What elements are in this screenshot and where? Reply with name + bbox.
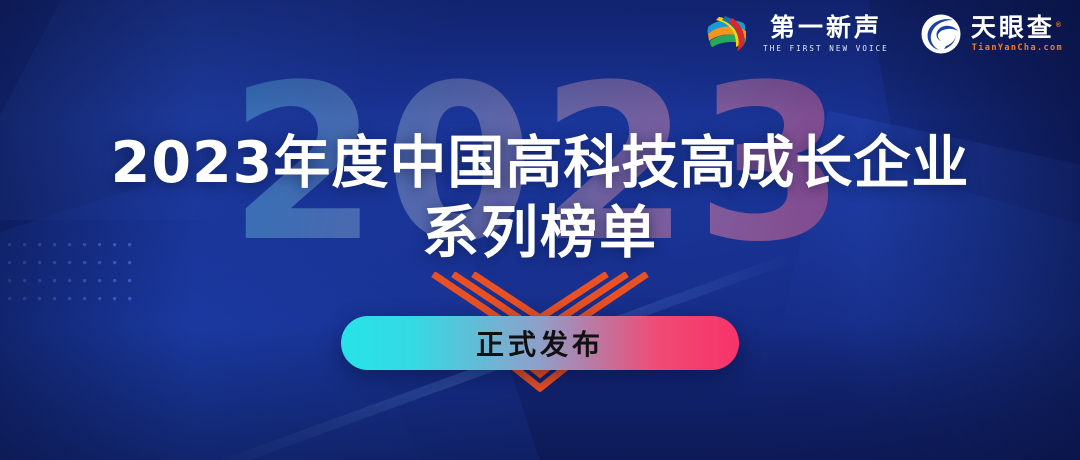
headline-line-1: 2023年度中国高科技高成长企业: [0, 134, 1080, 192]
logo-tianyancha-name-cn: 天眼查: [971, 14, 1055, 42]
trademark-icon: ®: [1056, 22, 1064, 29]
logo-diyixinsheng[interactable]: 第一新声 THE FIRST NEW VOICE: [705, 12, 894, 56]
logo-diyixinsheng-tagline-row: THE FIRST NEW VOICE: [758, 44, 894, 53]
logo-diyixinsheng-tagline: THE FIRST NEW VOICE: [763, 44, 889, 53]
logo-diyixinsheng-text: 第一新声 THE FIRST NEW VOICE: [758, 15, 894, 53]
logo-tianyancha-text: 天眼查® TianYanCha.com: [971, 15, 1064, 53]
headline-line-2: 系列榜单: [0, 204, 1080, 262]
page-title: 2023年度中国高科技高成长企业 系列榜单: [0, 134, 1080, 262]
logo-tianyancha-name: 天眼查®: [971, 15, 1064, 41]
logo-bar: 第一新声 THE FIRST NEW VOICE 天眼查® TianYanCha…: [705, 12, 1064, 56]
logo-tianyancha[interactable]: 天眼查® TianYanCha.com: [920, 13, 1064, 55]
camera-shutter-swirl-icon: [920, 13, 962, 55]
release-cta-button[interactable]: 正式发布: [341, 316, 739, 370]
logo-tianyancha-domain: TianYanCha.com: [972, 43, 1063, 53]
swirl-ribbon-icon: [705, 12, 749, 56]
promo-banner: 2023 第一新声: [0, 0, 1080, 460]
logo-diyixinsheng-name: 第一新声: [770, 15, 882, 41]
